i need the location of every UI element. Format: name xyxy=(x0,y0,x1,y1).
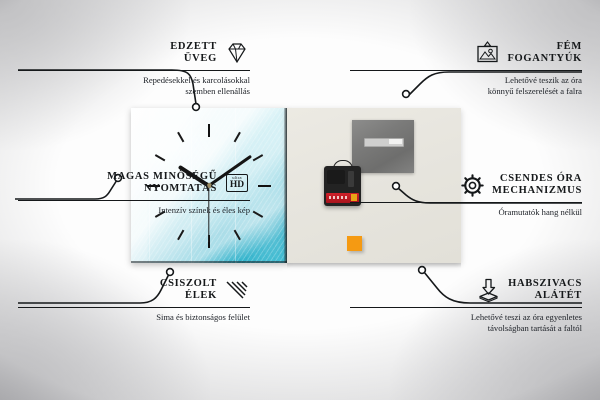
feature-header: HABSZIVACS ALÁTÉT xyxy=(350,277,582,303)
feature-divider xyxy=(350,202,582,203)
feature-high-quality-print: MAGAS MINŐSÉGŰ NYOMTATÁS ultra HD Intenz… xyxy=(18,170,250,216)
feature-silent-mechanism: CSENDES ÓRA MECHANIZMUS Óramutatók hang … xyxy=(350,172,582,218)
feature-polished-edges: CSISZOLT ÉLEK Sima és biztonságos felüle… xyxy=(18,277,250,323)
feature-divider xyxy=(18,200,250,201)
gear-icon xyxy=(459,172,485,198)
feature-divider xyxy=(18,70,250,71)
feature-title-line2: ÜVEG xyxy=(170,53,217,66)
feature-subtitle-line1: Sima és biztonságos felület xyxy=(18,312,250,323)
feature-header: CSENDES ÓRA MECHANIZMUS xyxy=(350,172,582,198)
feature-title-line2: ÉLEK xyxy=(160,290,217,303)
feature-subtitle-line2: távolságban tartását a faltól xyxy=(350,323,582,334)
feature-title-line2: MECHANIZMUS xyxy=(492,185,582,198)
feature-title-line1: HABSZIVACS xyxy=(508,278,582,291)
feature-header: FÉM FOGANTYÚK xyxy=(350,40,582,66)
feature-title-line1: FÉM xyxy=(507,41,582,54)
feature-subtitle-line1: Repedésekkel és karcolásokkal xyxy=(18,75,250,86)
feature-subtitle-line1: Lehetővé teszik az óra xyxy=(350,75,582,86)
feature-subtitle-line2: könnyű felszerelését a falra xyxy=(350,86,582,97)
mechanism-body xyxy=(327,170,345,184)
feature-divider xyxy=(350,70,582,71)
foam-pad-press-icon xyxy=(475,277,501,303)
feature-metal-handles: FÉM FOGANTYÚK Lehetővé teszik az óra kön… xyxy=(350,40,582,97)
feature-header: CSISZOLT ÉLEK xyxy=(18,277,250,303)
feature-title-line2: FOGANTYÚK xyxy=(507,53,582,66)
feature-title-line1: CSENDES ÓRA xyxy=(492,173,582,186)
infographic-canvas: EDZETT ÜVEG Repedésekkel és karcolásokka… xyxy=(0,0,600,400)
feature-subtitle-line1: Intenzív színek és éles kép xyxy=(18,205,250,216)
feature-title-line1: CSISZOLT xyxy=(160,278,217,291)
metal-hanger-plate xyxy=(352,120,414,173)
ultra-hd-icon: ultra HD xyxy=(224,170,250,196)
framed-picture-hook-icon xyxy=(474,40,500,66)
feature-header: MAGAS MINŐSÉGŰ NYOMTATÁS ultra HD xyxy=(18,170,250,196)
feature-header: EDZETT ÜVEG xyxy=(18,40,250,66)
feature-divider xyxy=(18,307,250,308)
polished-edge-icon xyxy=(224,277,250,303)
foam-pad xyxy=(347,236,362,251)
feature-divider xyxy=(350,307,582,308)
hanger-slot xyxy=(364,138,404,147)
feature-tempered-glass: EDZETT ÜVEG Repedésekkel és karcolásokka… xyxy=(18,40,250,97)
feature-foam-pad: HABSZIVACS ALÁTÉT Lehetővé teszi az óra … xyxy=(350,277,582,334)
battery-label xyxy=(329,196,349,199)
feature-title-line2: ALÁTÉT xyxy=(508,290,582,303)
feature-subtitle-line1: Lehetővé teszi az óra egyenletes xyxy=(350,312,582,323)
diamond-icon xyxy=(224,40,250,66)
product-shadow xyxy=(287,263,461,268)
feature-title-line1: MAGAS MINŐSÉGŰ xyxy=(107,171,217,184)
feature-subtitle-line1: Óramutatók hang nélkül xyxy=(350,207,582,218)
mechanism-handle xyxy=(333,160,353,170)
ultra-hd-large: HD xyxy=(230,181,244,191)
feature-title-line2: NYOMTATÁS xyxy=(107,183,217,196)
feature-subtitle-line2: szemben ellenállás xyxy=(18,86,250,97)
feature-title-line1: EDZETT xyxy=(170,41,217,54)
glass-edge-bottom xyxy=(131,261,287,263)
